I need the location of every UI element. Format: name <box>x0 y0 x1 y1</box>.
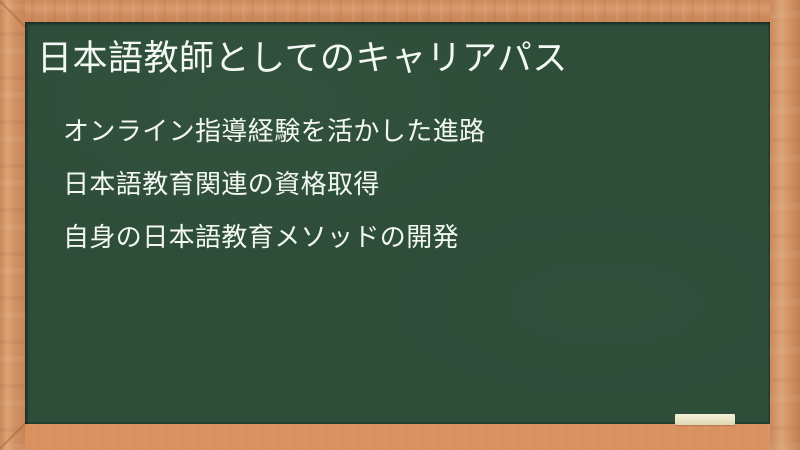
frame-rail-right <box>770 0 800 450</box>
frame-rail-top <box>0 0 800 24</box>
bullet-item: 自身の日本語教育メソッドの開発 <box>63 212 753 265</box>
chalkboard-slide: 日本語教師としてのキャリアパス オンライン指導経験を活かした進路 日本語教育関連… <box>0 0 800 450</box>
bullet-item: 日本語教育関連の資格取得 <box>63 159 753 212</box>
slide-title: 日本語教師としてのキャリアパス <box>37 36 568 82</box>
chalk-stick-icon <box>675 414 735 425</box>
chalkboard-surface: 日本語教師としてのキャリアパス オンライン指導経験を活かした進路 日本語教育関連… <box>25 22 770 424</box>
frame-rail-bottom <box>0 424 800 450</box>
slide-content: 日本語教師としてのキャリアパス オンライン指導経験を活かした進路 日本語教育関連… <box>25 22 770 424</box>
bullet-item: オンライン指導経験を活かした進路 <box>63 106 753 159</box>
bullet-list: オンライン指導経験を活かした進路 日本語教育関連の資格取得 自身の日本語教育メソ… <box>63 106 753 265</box>
frame-rail-left <box>0 0 25 450</box>
